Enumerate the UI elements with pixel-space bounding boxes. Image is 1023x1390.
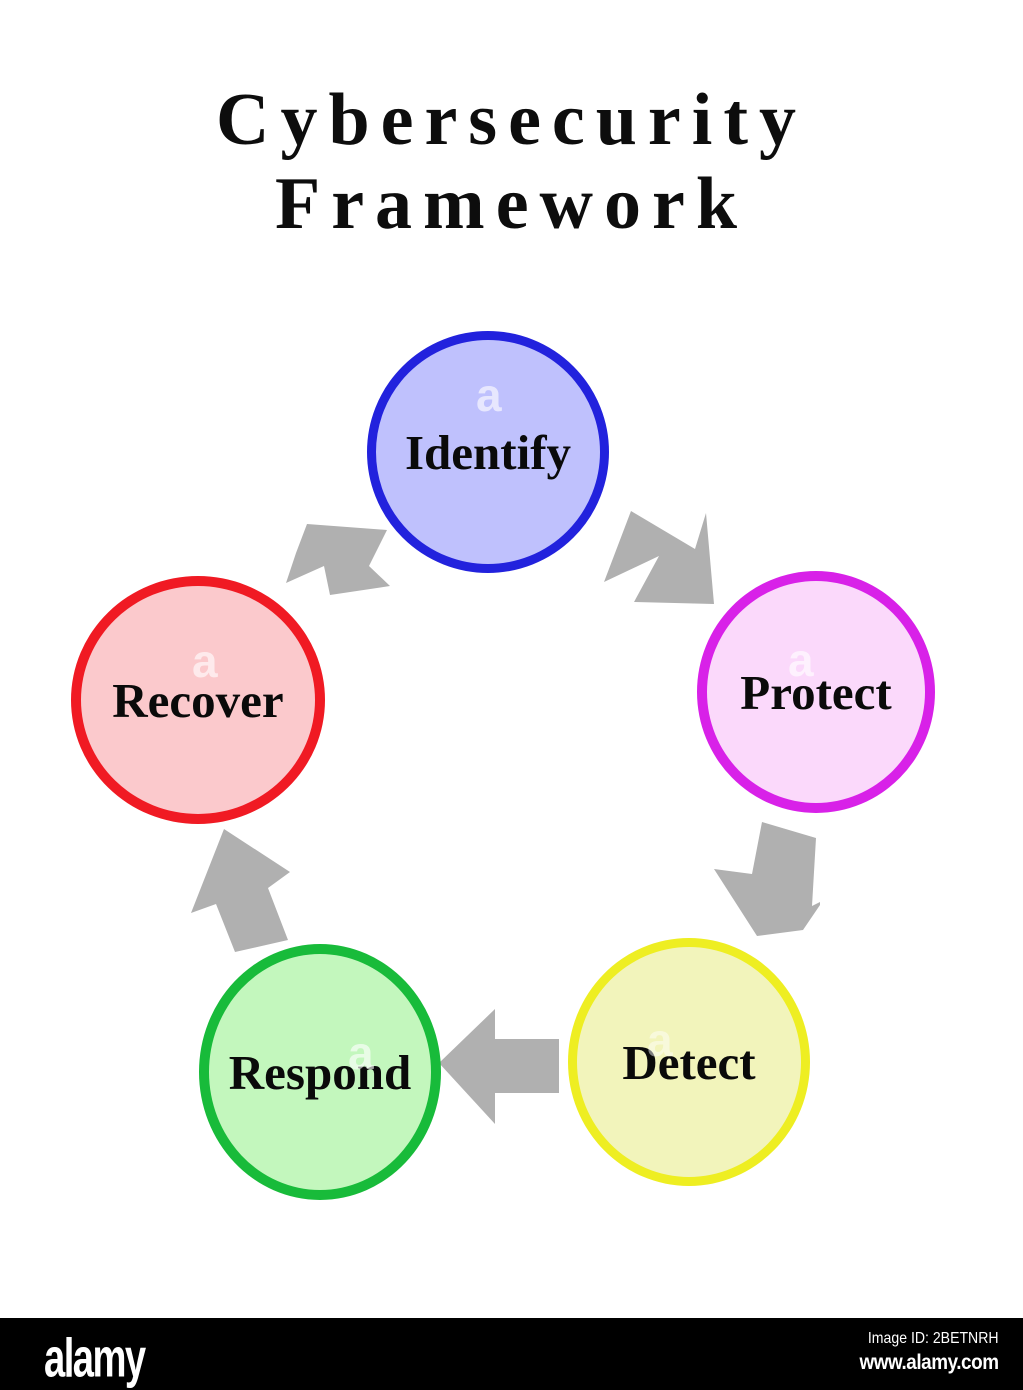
node-label-protect: Protect: [740, 664, 891, 721]
node-detect[interactable]: a Detect: [568, 938, 810, 1186]
node-identify[interactable]: a Identify: [367, 331, 609, 573]
arrow-respond-to-recover: [191, 829, 290, 952]
node-label-respond: Respond: [229, 1044, 411, 1101]
image-id-text: Image ID: 2BETNRH: [863, 1328, 999, 1350]
arrow-protect-to-detect: [714, 822, 820, 936]
alamy-logo: alamy: [44, 1327, 145, 1390]
node-label-identify: Identify: [405, 424, 571, 481]
node-label-recover: Recover: [112, 672, 283, 729]
arrow-recover-to-identify: [286, 524, 390, 595]
node-label-detect: Detect: [622, 1034, 755, 1091]
node-protect[interactable]: a Protect: [697, 571, 935, 813]
arrow-detect-to-respond: [439, 1009, 559, 1124]
footer-meta: Image ID: 2BETNRH www.alamy.com: [844, 1328, 999, 1376]
alamy-url-text: www.alamy.com: [860, 1350, 999, 1376]
arrow-identify-to-protect: [604, 511, 714, 604]
node-recover[interactable]: a Recover: [71, 576, 325, 824]
node-respond[interactable]: a Respond: [199, 944, 441, 1200]
cybersecurity-framework-cycle-diagram: a Identify a Protect a Detect a Respond …: [0, 0, 1023, 1318]
watermark-letter-identify: a: [476, 368, 502, 422]
alamy-watermark-footer: alamy Image ID: 2BETNRH www.alamy.com: [0, 1318, 1023, 1390]
